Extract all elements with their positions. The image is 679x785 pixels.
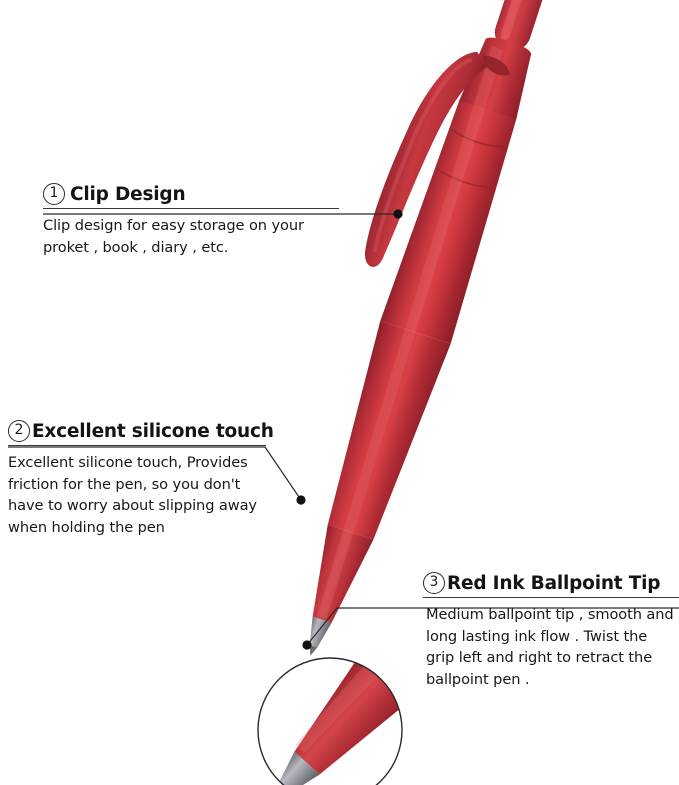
callout-3-number-badge: 3 <box>423 572 445 594</box>
callout-2-header: 2 Excellent silicone touch <box>8 420 270 442</box>
callout-1-title: Clip Design <box>70 184 185 205</box>
leader-dot-1 <box>393 209 402 218</box>
callout-3-header: 3 Red Ink Ballpoint Tip <box>423 572 679 594</box>
pen-barrel <box>380 98 523 343</box>
callout-2-divider <box>8 445 266 446</box>
callout-1-body: Clip design for easy storage on your pro… <box>43 215 333 258</box>
callout-ballpoint-tip: 3 Red Ink Ballpoint Tip Medium ballpoint… <box>423 572 679 690</box>
magnifier-detail <box>247 643 421 785</box>
leader-dot-3 <box>302 640 311 649</box>
callout-2-body: Excellent silicone touch, Provides frict… <box>8 452 266 538</box>
product-infographic: 1 Clip Design Clip design for easy stora… <box>0 0 679 785</box>
callout-2-title: Excellent silicone touch <box>32 421 274 442</box>
callout-3-title: Red Ink Ballpoint Tip <box>447 573 660 594</box>
callout-1-divider <box>43 208 339 209</box>
callout-3-divider <box>423 597 679 598</box>
callout-clip-design: 1 Clip Design Clip design for easy stora… <box>43 183 343 258</box>
callout-1-number-badge: 1 <box>43 183 65 205</box>
callout-silicone-touch: 2 Excellent silicone touch Excellent sil… <box>8 420 270 538</box>
pen-body <box>238 0 565 667</box>
callout-1-header: 1 Clip Design <box>43 183 343 205</box>
callout-2-number-badge: 2 <box>8 420 30 442</box>
leader-dot-2 <box>296 495 305 504</box>
callout-3-body: Medium ballpoint tip , smooth and long l… <box>426 604 678 690</box>
